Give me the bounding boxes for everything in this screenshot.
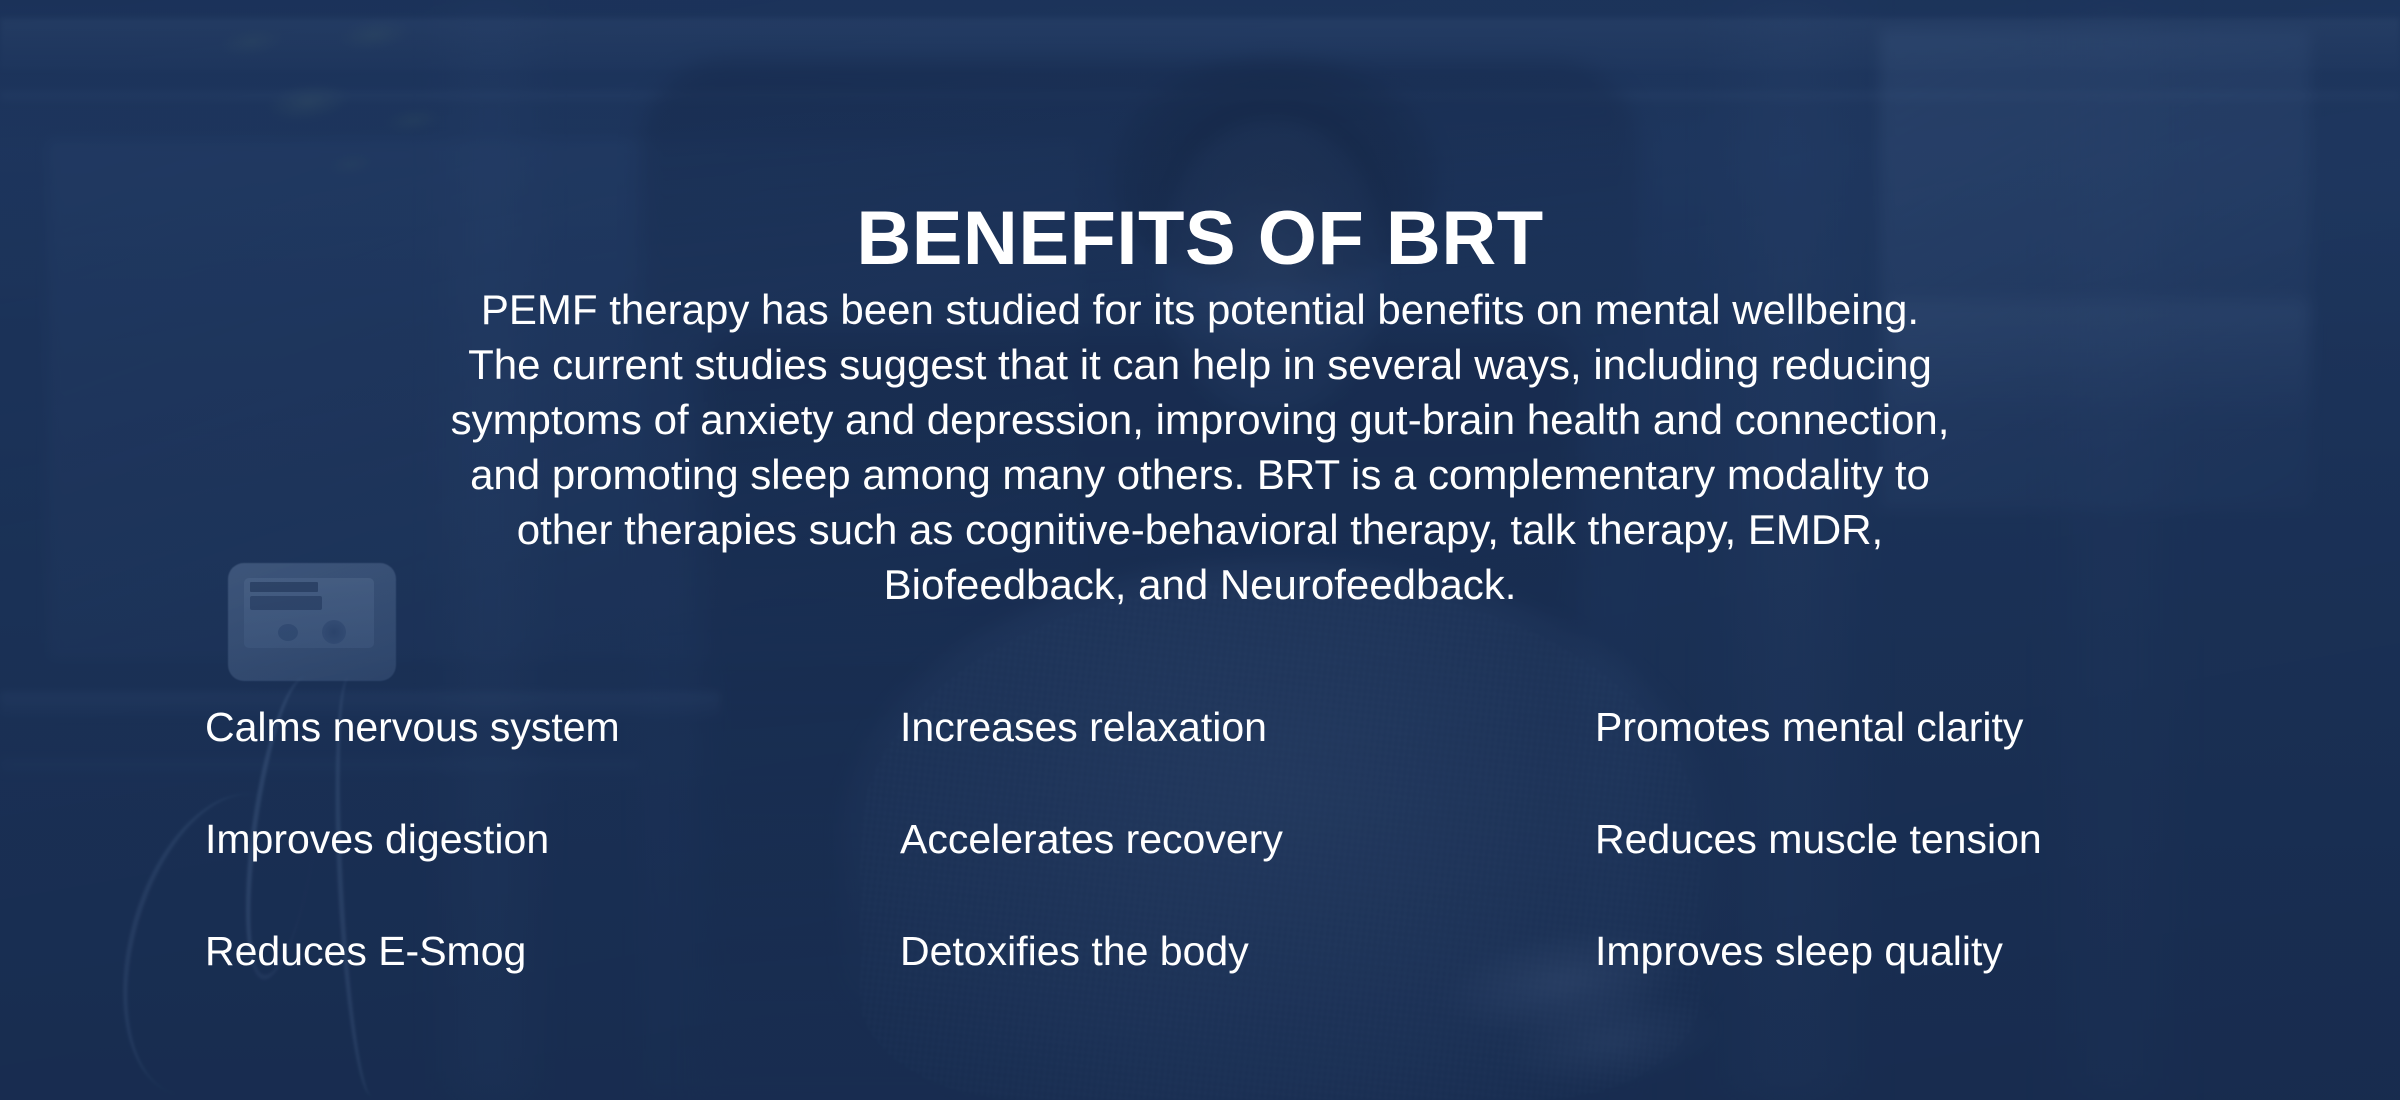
benefits-list: Calms nervous system Increases relaxatio… (205, 706, 2205, 972)
paragraph-line: The current studies suggest that it can … (300, 337, 2100, 392)
paragraph-line: and promoting sleep among many others. B… (300, 447, 2100, 502)
benefit-item: Detoxifies the body (900, 930, 1595, 972)
slide-content: BENEFITS OF BRT PEMF therapy has been st… (0, 0, 2400, 1100)
paragraph-line: other therapies such as cognitive-behavi… (300, 502, 2100, 557)
benefit-item: Improves digestion (205, 818, 900, 860)
benefits-slide: BENEFITS OF BRT PEMF therapy has been st… (0, 0, 2400, 1100)
page-title: BENEFITS OF BRT (0, 201, 2400, 277)
benefit-item: Improves sleep quality (1595, 930, 2205, 972)
benefit-item: Calms nervous system (205, 706, 900, 748)
paragraph-line: symptoms of anxiety and depression, impr… (300, 392, 2100, 447)
benefit-item: Accelerates recovery (900, 818, 1595, 860)
benefit-item: Promotes mental clarity (1595, 706, 2205, 748)
benefit-item: Reduces E-Smog (205, 930, 900, 972)
paragraph-line: PEMF therapy has been studied for its po… (300, 282, 2100, 337)
paragraph-line: Biofeedback, and Neurofeedback. (300, 557, 2100, 612)
benefit-item: Increases relaxation (900, 706, 1595, 748)
benefit-item: Reduces muscle tension (1595, 818, 2205, 860)
intro-paragraph: PEMF therapy has been studied for its po… (300, 282, 2100, 612)
